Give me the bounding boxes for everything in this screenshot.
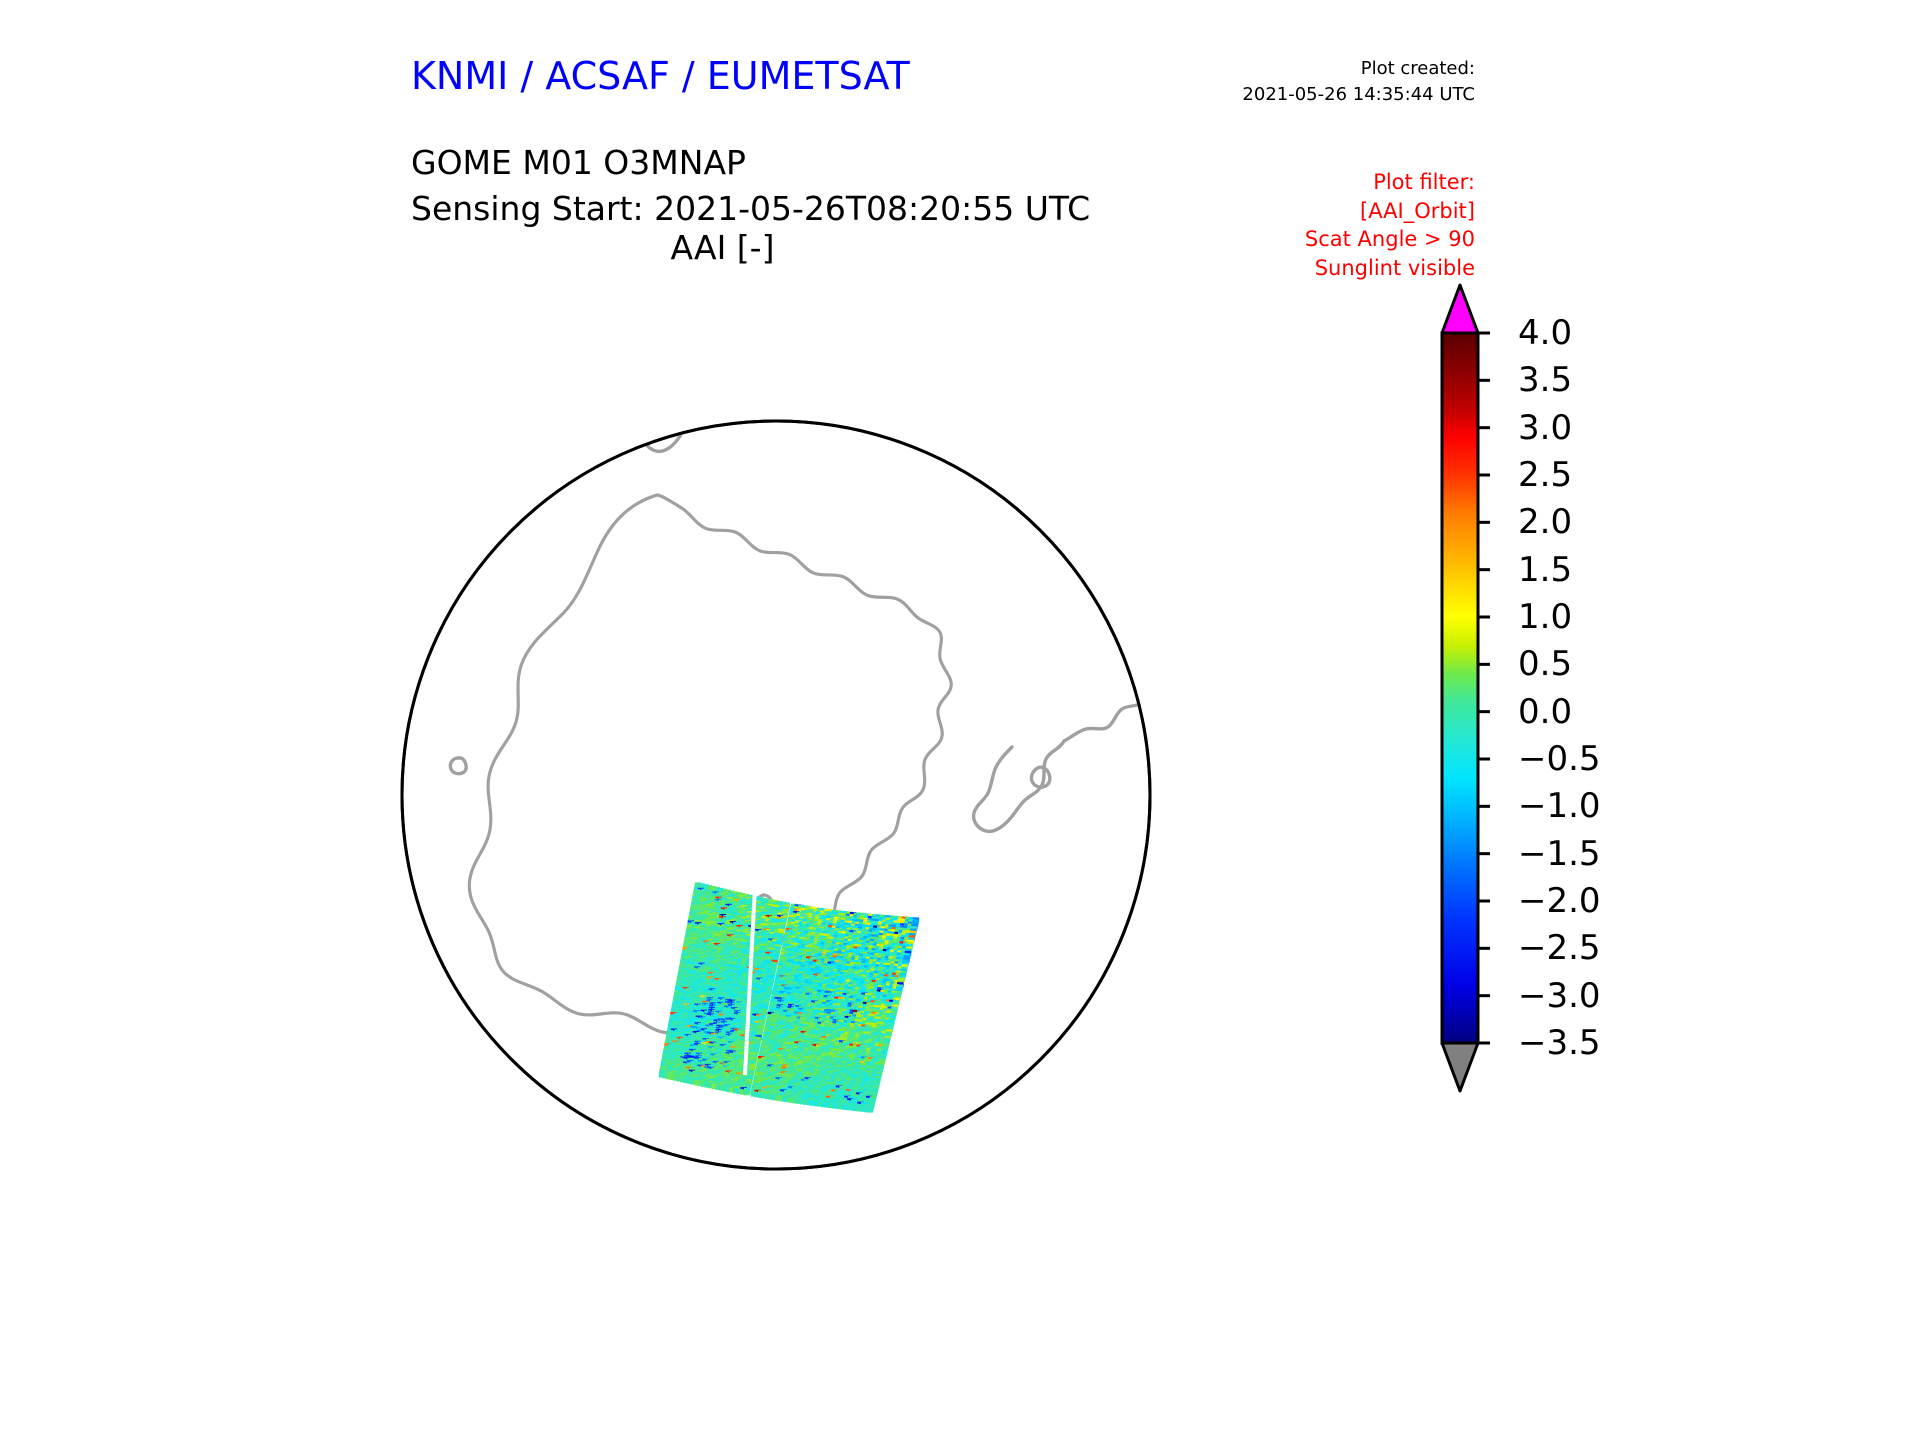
dataset-name: GOME M01 O3MNAP [411, 140, 1090, 186]
colorbar-tick-label-9: −0.5 [1518, 742, 1601, 776]
polar-map-svg [400, 275, 1440, 1315]
data-swath-group [659, 882, 919, 1112]
page-title-organisation: KNMI / ACSAF / EUMETSAT [411, 54, 910, 98]
colorbar-tick-labels: 4.03.53.02.52.01.51.00.50.0−0.5−1.0−1.5−… [1518, 280, 1658, 1300]
colorbar-tick-label-4: 2.0 [1518, 505, 1572, 539]
swath-pixel-field [659, 882, 919, 1112]
colorbar-tick-label-2: 3.0 [1518, 411, 1572, 445]
quantity-title: AAI [-] [0, 228, 1445, 267]
plot-filter-label: Plot filter: [1305, 168, 1475, 197]
colorbar-tick-marks [1478, 333, 1490, 1043]
colorbar-over-range-arrow [1442, 285, 1478, 333]
coastline-new-zealand-north [721, 282, 772, 327]
coastline-australia-bight [400, 335, 496, 401]
colorbar-gradient-bar [1442, 333, 1478, 1043]
coastline-australia-south [496, 308, 571, 335]
coastline-tasmania [540, 383, 602, 439]
plot-filter-line-1: Scat Angle > 90 [1305, 225, 1475, 254]
plot-created-timestamp: 2021-05-26 14:35:44 UTC [1242, 82, 1475, 108]
colorbar-tick-label-7: 0.5 [1518, 647, 1572, 681]
colorbar-tick-label-3: 2.5 [1518, 458, 1572, 492]
colorbar-tick-label-11: −1.5 [1518, 837, 1601, 871]
colorbar-tick-label-15: −3.5 [1518, 1026, 1601, 1060]
plot-filter-block: Plot filter: [AAI_Orbit] Scat Angle > 90… [1305, 168, 1475, 282]
colorbar [1430, 280, 1490, 1300]
plot-created-label: Plot created: [1242, 56, 1475, 82]
plot-filter-line-0: [AAI_Orbit] [1305, 197, 1475, 226]
sensing-start: Sensing Start: 2021-05-26T08:20:55 UTC [411, 186, 1090, 232]
map-plot-area [400, 275, 1440, 1315]
colorbar-tick-label-8: 0.0 [1518, 695, 1572, 729]
colorbar-tick-label-13: −2.5 [1518, 931, 1601, 965]
plot-created-block: Plot created: 2021-05-26 14:35:44 UTC [1242, 56, 1475, 108]
colorbar-under-range-arrow [1442, 1043, 1478, 1091]
colorbar-tick-label-6: 1.0 [1518, 600, 1572, 634]
colorbar-tick-label-14: −3.0 [1518, 979, 1601, 1013]
dataset-info-block: GOME M01 O3MNAP Sensing Start: 2021-05-2… [411, 140, 1090, 232]
colorbar-tick-label-1: 3.5 [1518, 363, 1572, 397]
colorbar-tick-label-0: 4.0 [1518, 316, 1572, 350]
colorbar-tick-label-10: −1.0 [1518, 789, 1601, 823]
colorbar-tick-label-12: −2.0 [1518, 884, 1601, 918]
colorbar-svg [1430, 280, 1490, 1300]
colorbar-tick-label-5: 1.5 [1518, 553, 1572, 587]
